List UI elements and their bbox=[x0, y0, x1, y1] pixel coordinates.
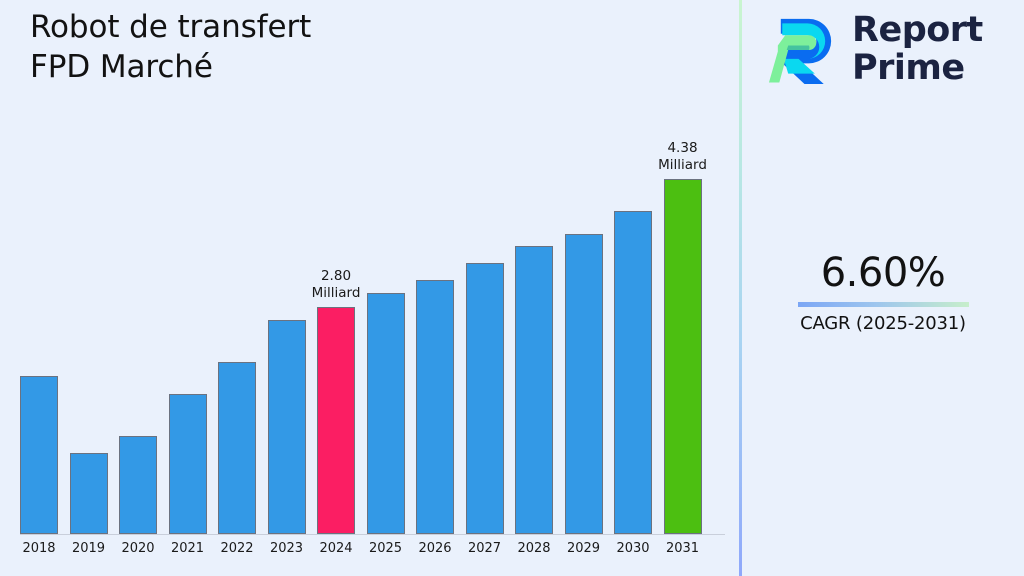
bar-2026[interactable] bbox=[416, 280, 454, 534]
x-tick-label-2021: 2021 bbox=[163, 541, 213, 556]
bar-2029[interactable] bbox=[565, 234, 603, 535]
bar-2019[interactable] bbox=[70, 453, 108, 534]
x-tick-label-2031: 2031 bbox=[658, 541, 708, 556]
brand-name-line2: Prime bbox=[852, 48, 965, 88]
bar-2022[interactable] bbox=[218, 362, 256, 534]
brand-logo: ReportPrime bbox=[766, 12, 983, 88]
bar-chart-plot: 20182019202020212022202320242.80 Milliar… bbox=[0, 0, 739, 576]
bar-value-label-2024: 2.80 Milliard bbox=[296, 268, 376, 302]
x-tick-label-2018: 2018 bbox=[14, 541, 64, 556]
bar-2024[interactable] bbox=[317, 307, 355, 534]
bar-2021[interactable] bbox=[169, 394, 207, 534]
cagr-value: 6.60% bbox=[742, 252, 1024, 294]
x-tick-label-2030: 2030 bbox=[608, 541, 658, 556]
x-tick-label-2024: 2024 bbox=[311, 541, 361, 556]
bar-2023[interactable] bbox=[268, 320, 306, 534]
x-tick-label-2028: 2028 bbox=[509, 541, 559, 556]
cagr-divider-rule bbox=[798, 302, 969, 307]
x-tick-label-2020: 2020 bbox=[113, 541, 163, 556]
bar-2020[interactable] bbox=[119, 436, 157, 534]
bar-2031[interactable] bbox=[664, 179, 702, 534]
x-tick-label-2027: 2027 bbox=[460, 541, 510, 556]
bar-2028[interactable] bbox=[515, 246, 553, 534]
cagr-block: 6.60% CAGR (2025-2031) bbox=[742, 252, 1024, 334]
bar-2018[interactable] bbox=[20, 376, 58, 534]
bar-2027[interactable] bbox=[466, 263, 504, 534]
brand-name-line1: Report bbox=[852, 10, 983, 50]
bar-2025[interactable] bbox=[367, 293, 405, 534]
x-tick-label-2026: 2026 bbox=[410, 541, 460, 556]
report-prime-r-logo-icon bbox=[766, 12, 840, 88]
x-tick-label-2022: 2022 bbox=[212, 541, 262, 556]
bar-2030[interactable] bbox=[614, 211, 652, 534]
x-axis-line bbox=[20, 534, 725, 535]
brand-panel: ReportPrime 6.60% CAGR (2025-2031) bbox=[742, 0, 1024, 576]
x-tick-label-2019: 2019 bbox=[64, 541, 114, 556]
x-tick-label-2029: 2029 bbox=[559, 541, 609, 556]
chart-infographic: Robot de transfert FPD Marché 2018201920… bbox=[0, 0, 1024, 576]
chart-panel: Robot de transfert FPD Marché 2018201920… bbox=[0, 0, 739, 576]
brand-name: ReportPrime bbox=[852, 12, 983, 88]
x-tick-label-2025: 2025 bbox=[361, 541, 411, 556]
bar-value-label-2031: 4.38 Milliard bbox=[643, 140, 723, 174]
x-tick-label-2023: 2023 bbox=[262, 541, 312, 556]
cagr-caption: CAGR (2025-2031) bbox=[742, 313, 1024, 334]
